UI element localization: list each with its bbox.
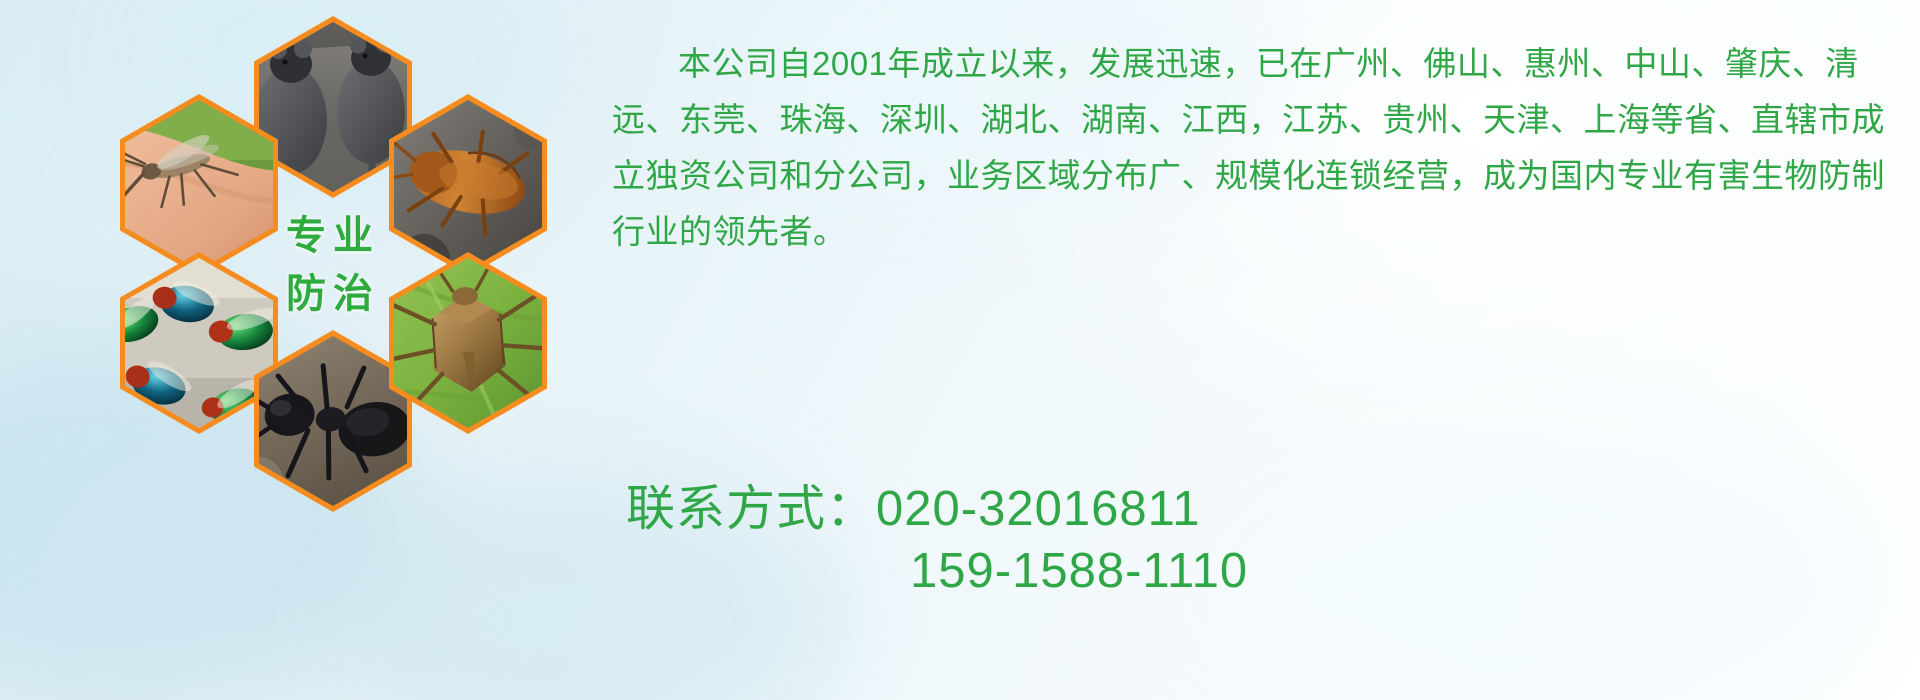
- rats-photo: [259, 22, 407, 192]
- flies-photo: [125, 258, 273, 428]
- cockroach-photo: [394, 100, 542, 270]
- mosquito-photo: [125, 100, 273, 270]
- hex-cell-stinkbug-image: [394, 258, 542, 428]
- hex-cell-rats-image: [259, 22, 407, 192]
- stinkbug-photo: [394, 258, 542, 428]
- hex-cell-cockroach[interactable]: [389, 94, 547, 276]
- promo-banner: 专业 防治 本公司自2001年成立以来，发展迅速，已在广州、佛山、惠州、中山、肇…: [0, 0, 1920, 700]
- hex-cell-ant-image: [259, 336, 407, 506]
- honeycomb-center-label: 专业 防治: [254, 174, 412, 356]
- honeycomb-label-line2: 防治: [286, 265, 380, 323]
- contact-line-landline[interactable]: 联系方式：020-32016811: [612, 478, 1902, 540]
- honeycomb-photo-cluster: 专业 防治: [84, 12, 584, 572]
- company-description-text: 本公司自2001年成立以来，发展迅速，已在广州、佛山、惠州、中山、肇庆、清远、东…: [612, 36, 1902, 260]
- honeycomb-label-line1: 专业: [286, 207, 380, 265]
- hex-cell-flies-image: [125, 258, 273, 428]
- contact-line-mobile[interactable]: 159-1588-1110: [612, 540, 1902, 602]
- company-description: 本公司自2001年成立以来，发展迅速，已在广州、佛山、惠州、中山、肇庆、清远、东…: [612, 36, 1902, 260]
- hex-cell-cockroach-image: [394, 100, 542, 270]
- ant-photo: [259, 336, 407, 506]
- contact-block: 联系方式：020-32016811 159-1588-1110: [612, 478, 1902, 602]
- hex-cell-stinkbug[interactable]: [389, 252, 547, 434]
- hex-cell-mosquito-image: [125, 100, 273, 270]
